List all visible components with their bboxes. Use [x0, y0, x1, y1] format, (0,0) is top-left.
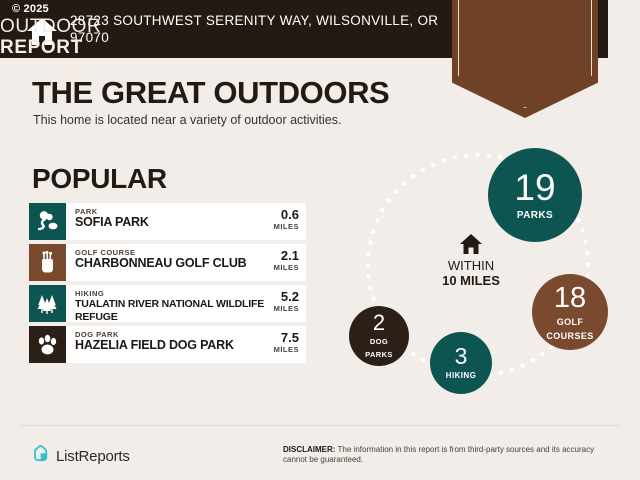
badge-title-line2: REPORT [0, 37, 146, 58]
page-subtitle: This home is located near a variety of o… [33, 113, 341, 127]
distance-unit: MILES [274, 263, 299, 272]
distance-value: 5.2 [274, 290, 299, 304]
golf-courses-count: 18 [554, 284, 586, 313]
distance-value: 0.6 [274, 208, 299, 222]
list-item-distance: 2.1 MILES [272, 244, 306, 281]
outdoor-report-page: © 2025 28723 SOUTHWEST SERENITY WAY, WIL… [0, 0, 640, 480]
stat-bubble-dog-parks[interactable]: 2 DOG PARKS [349, 306, 409, 366]
popular-heading: POPULAR [32, 163, 167, 195]
dog-parks-count: 2 [373, 312, 385, 334]
list-item-category: HIKING [75, 289, 272, 298]
stat-bubble-parks[interactable]: 19 PARKS [488, 148, 582, 242]
diagram-center: WITHIN 10 MILES [416, 233, 526, 288]
within-10-miles-diagram: 19 PARKS 18 GOLF COURSES 3 HIKING 2 DOG … [330, 135, 630, 415]
distance-unit: MILES [274, 345, 299, 354]
dog-parks-label-line1: DOG [370, 337, 388, 347]
stat-bubble-golf-courses[interactable]: 18 GOLF COURSES [532, 274, 608, 350]
hiking-label: HIKING [446, 371, 476, 381]
distance-unit: MILES [274, 304, 299, 313]
copyright-text: © 2025 [12, 3, 49, 15]
list-item-name: CHARBONNEAU GOLF CLUB [75, 257, 272, 270]
list-item[interactable]: HIKING TUALATIN RIVER NATIONAL WILDLIFE … [29, 285, 306, 322]
center-label-line2: 10 MILES [416, 273, 526, 288]
stat-bubble-hiking[interactable]: 3 HIKING [430, 332, 492, 394]
distance-value: 2.1 [274, 249, 299, 263]
pine-trees-icon [29, 285, 66, 322]
center-label-line1: WITHIN [416, 258, 526, 273]
dog-parks-label-line2: PARKS [365, 350, 393, 360]
home-icon [416, 233, 526, 255]
list-item-name: TUALATIN RIVER NATIONAL WILDLIFE REFUGE [75, 298, 272, 322]
golf-courses-label-line1: GOLF [557, 317, 584, 327]
parks-count: 19 [514, 169, 555, 206]
list-item[interactable]: DOG PARK HAZELIA FIELD DOG PARK 7.5 MILE… [29, 326, 306, 363]
popular-list: PARK SOFIA PARK 0.6 MILES GOLF COURSE [29, 203, 306, 367]
list-item[interactable]: GOLF COURSE CHARBONNEAU GOLF CLUB 2.1 MI… [29, 244, 306, 281]
parks-label: PARKS [517, 211, 553, 221]
list-item[interactable]: PARK SOFIA PARK 0.6 MILES [29, 203, 306, 240]
paw-print-icon [29, 326, 66, 363]
list-item-distance: 7.5 MILES [272, 326, 306, 363]
list-item-distance: 0.6 MILES [272, 203, 306, 240]
park-icon [29, 203, 66, 240]
outdoor-report-badge [452, 0, 598, 118]
hiking-count: 3 [455, 345, 468, 368]
list-item-distance: 5.2 MILES [272, 285, 306, 322]
badge-title-line1: OUTDOOR [0, 16, 146, 37]
listreports-logo[interactable]: ListReports [31, 444, 130, 468]
footer-divider [20, 425, 620, 426]
badge-inner-border [458, 0, 592, 108]
list-item-name: HAZELIA FIELD DOG PARK [75, 339, 272, 352]
golf-courses-label-line2: COURSES [546, 331, 593, 341]
distance-unit: MILES [274, 222, 299, 231]
listreports-logo-text: ListReports [56, 448, 130, 465]
listreports-house-icon [31, 444, 56, 468]
disclaimer-label: DISCLAIMER: [283, 445, 335, 454]
page-title: THE GREAT OUTDOORS [32, 75, 389, 111]
distance-value: 7.5 [274, 331, 299, 345]
list-item-name: SOFIA PARK [75, 216, 272, 229]
disclaimer: DISCLAIMER: The information in this repo… [283, 445, 613, 465]
golf-bag-icon [29, 244, 66, 281]
badge-title: OUTDOOR REPORT [0, 16, 146, 58]
